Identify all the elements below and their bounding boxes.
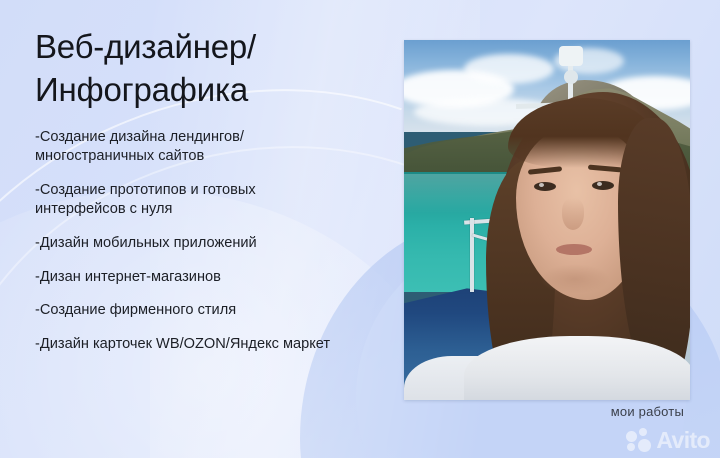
photo-eye-right [592, 181, 614, 190]
list-item: -Создание фирменного стиля [35, 301, 400, 321]
list-item: -Создание прототипов и готовых интерфейс… [35, 181, 400, 220]
avito-watermark: Avito [626, 428, 710, 452]
photo-mouth [556, 244, 592, 255]
portfolio-caption: мои работы [611, 404, 684, 419]
photo-railing-post [470, 218, 474, 292]
avito-dots-logo-icon [626, 428, 652, 452]
photo-nose [562, 198, 584, 230]
photo-eye-left [534, 182, 556, 191]
photo-mast-light [559, 46, 583, 66]
photo-mast-antenna [564, 70, 578, 84]
avito-wordmark: Avito [656, 429, 710, 452]
portrait-photo [404, 40, 690, 400]
photo-white-shirt [464, 336, 690, 400]
photo-eye-highlight [597, 182, 602, 186]
list-item: -Дизан интернет-магазинов [35, 268, 400, 288]
ad-image-canvas: Веб-дизайнер/ Инфографика -Создание диза… [0, 0, 720, 458]
photo-eye-highlight [539, 183, 544, 187]
photo-chin-shadow [540, 264, 610, 294]
cloud [464, 54, 554, 84]
services-list: -Создание дизайна лендингов/ многострани… [35, 128, 400, 354]
text-column: Веб-дизайнер/ Инфографика -Создание диза… [35, 26, 400, 354]
list-item: -Дизайн мобильных приложений [35, 234, 400, 254]
page-title: Веб-дизайнер/ Инфографика [35, 26, 400, 112]
list-item: -Создание дизайна лендингов/ многострани… [35, 128, 400, 167]
list-item: -Дизайн карточек WB/OZON/Яндекс маркет [35, 335, 400, 355]
